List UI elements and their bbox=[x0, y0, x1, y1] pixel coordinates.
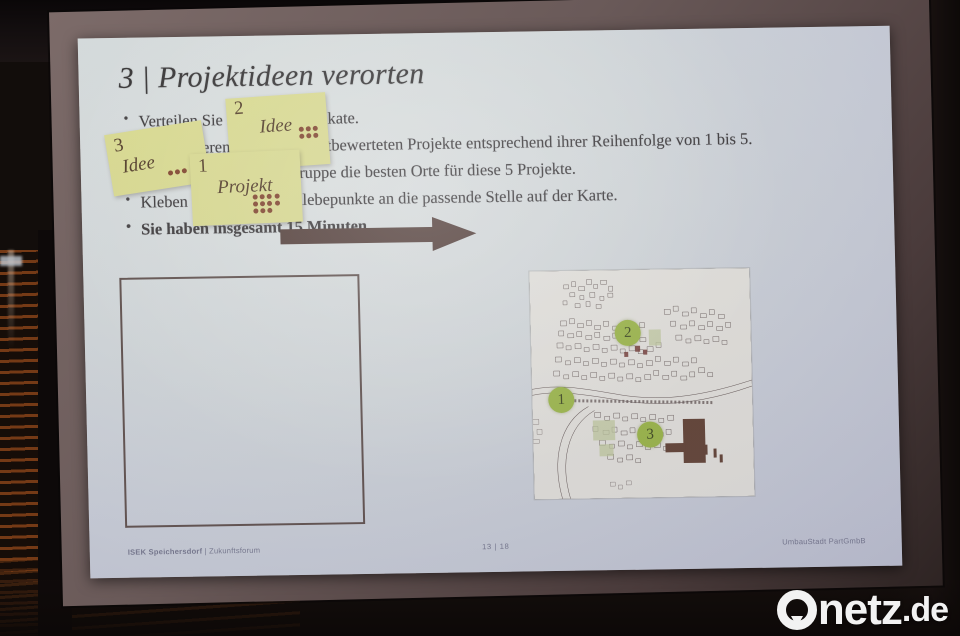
vote-dot bbox=[274, 194, 279, 199]
page-number: 13 | 18 bbox=[90, 536, 902, 558]
sticky-note-word: Idee bbox=[259, 114, 293, 138]
arrow-shaft bbox=[280, 227, 438, 244]
vote-dot bbox=[168, 170, 174, 176]
watermark-text: netz bbox=[818, 590, 902, 630]
vote-dot bbox=[267, 201, 272, 206]
location-pin-o-icon bbox=[777, 590, 817, 630]
sticky-note-number: 1 bbox=[198, 155, 209, 177]
vote-dot bbox=[253, 195, 258, 200]
vote-dot bbox=[253, 202, 258, 207]
map-marker-label: 3 bbox=[646, 426, 654, 443]
vote-dot bbox=[261, 209, 266, 214]
vote-dot bbox=[313, 126, 318, 131]
page-title: 3 | Projektideen verorten bbox=[118, 57, 425, 96]
arrow-head bbox=[432, 216, 477, 251]
presentation-slide: 3 | Projektideen verorten Verteilen Sie … bbox=[78, 26, 903, 579]
vote-dot bbox=[268, 208, 273, 213]
sticky-note-number: 3 bbox=[112, 135, 125, 158]
vote-dot bbox=[182, 168, 188, 174]
pin-notch bbox=[791, 616, 803, 627]
sticky-note-word: Idee bbox=[121, 152, 157, 179]
vote-dot bbox=[306, 126, 311, 131]
vote-dot bbox=[260, 194, 265, 199]
room-photo-scene: 3 | Projektideen verorten Verteilen Sie … bbox=[0, 0, 960, 636]
slide-surface-wrapper: 3 | Projektideen verorten Verteilen Sie … bbox=[78, 26, 903, 579]
map-drawing bbox=[529, 268, 754, 499]
vote-dot bbox=[267, 194, 272, 199]
map-marker-label: 1 bbox=[557, 391, 565, 408]
footer-company: UmbauStadt PartGmbB bbox=[782, 536, 866, 546]
slide-footer: ISEK Speichersdorf | Zukunftsforum 13 | … bbox=[90, 536, 902, 565]
vote-dot bbox=[275, 201, 280, 206]
watermark-suffix: .de bbox=[902, 590, 948, 630]
right-arrow-icon bbox=[280, 216, 483, 253]
vote-dot bbox=[260, 201, 265, 206]
lamp-glow bbox=[0, 256, 22, 266]
vote-dot bbox=[253, 209, 258, 214]
vote-dot bbox=[306, 133, 311, 138]
vote-dot bbox=[299, 134, 304, 139]
sticky-note-dots bbox=[252, 192, 287, 215]
vote-dot bbox=[175, 169, 181, 175]
onetz-watermark: netz .de bbox=[777, 590, 948, 630]
sticky-note-dots bbox=[298, 124, 324, 140]
sticky-note-number: 2 bbox=[233, 98, 244, 121]
vote-dot bbox=[299, 127, 304, 132]
projection-screen: 3 | Projektideen verorten Verteilen Sie … bbox=[49, 0, 943, 612]
town-map-image: 1 2 3 bbox=[529, 268, 754, 499]
poster-frame bbox=[119, 274, 365, 528]
map-marker-label: 2 bbox=[624, 324, 632, 341]
sticky-note: 1 Projekt bbox=[189, 150, 302, 227]
vote-dot bbox=[314, 133, 319, 138]
